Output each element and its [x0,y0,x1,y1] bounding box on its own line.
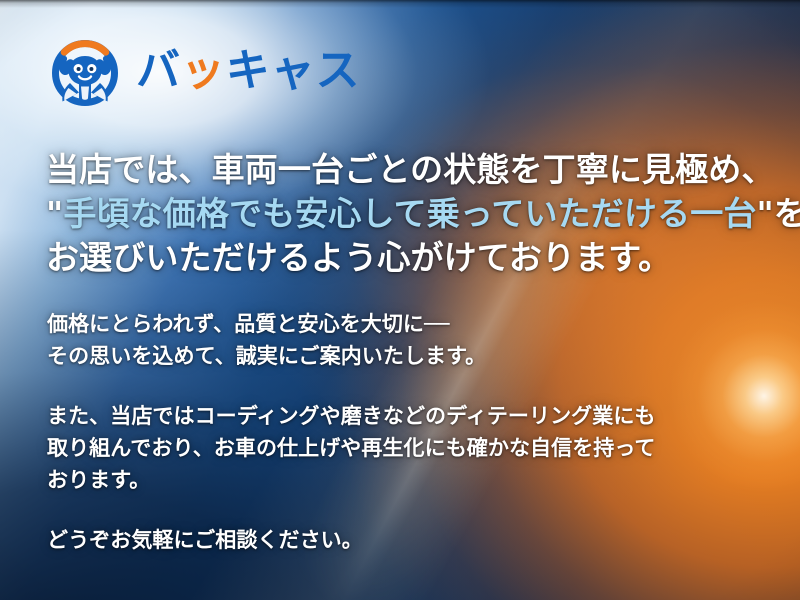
headline-line-2: "手頃な価格でも安心して乗っていただける一台"を [46,192,762,236]
headline-line-1: 当店では、車両一台ごとの状態を丁寧に見極め、 [46,148,762,192]
brand-wordmark-accent: ッ [181,45,226,96]
headline-accent-phrase: 手頃な価格でも安心して乗っていただける一台 [63,194,756,233]
paragraph-detailing: また、当店ではコーディングや磨きなどのディテーリング業にも 取り組んでおり、お車… [47,400,759,496]
paragraph-detailing-line-3: おります。 [47,464,759,496]
steering-wheel-mascot-icon [48,36,122,106]
brand-wordmark: バッキャス [136,49,360,93]
banner-content: バッキャス 当店では、車両一台ごとの状態を丁寧に見極め、 "手頃な価格でも安心し… [0,0,800,600]
headline-quote-open: " [46,194,63,233]
headline-line-3: お選びいただけるよう心がけております。 [46,236,762,280]
paragraph-quality-line-2: その思いを込めて、誠実にご案内いたします。 [47,340,759,372]
promo-banner: バッキャス 当店では、車両一台ごとの状態を丁寧に見極め、 "手頃な価格でも安心し… [0,0,800,600]
brand-lockup: バッキャス [48,36,360,106]
paragraph-quality-line-1: 価格にとらわれず、品質と安心を大切に── [47,308,759,340]
headline-line-2-tail: を [774,194,800,233]
paragraph-detailing-line-1: また、当店ではコーディングや磨きなどのディテーリング業にも [47,400,759,432]
headline: 当店では、車両一台ごとの状態を丁寧に見極め、 "手頃な価格でも安心して乗っていた… [46,148,762,280]
paragraph-detailing-line-2: 取り組んでおり、お車の仕上げや再生化にも確かな自信を持って [47,432,759,464]
paragraph-contact-line-1: どうぞお気軽にご相談ください。 [47,524,759,556]
paragraph-quality: 価格にとらわれず、品質と安心を大切に── その思いを込めて、誠実にご案内いたしま… [47,308,759,372]
headline-quote-close: " [756,194,773,233]
paragraph-contact: どうぞお気軽にご相談ください。 [47,524,759,556]
brand-wordmark-part-1: バ [136,45,181,96]
brand-wordmark-part-2: キャス [226,45,361,96]
